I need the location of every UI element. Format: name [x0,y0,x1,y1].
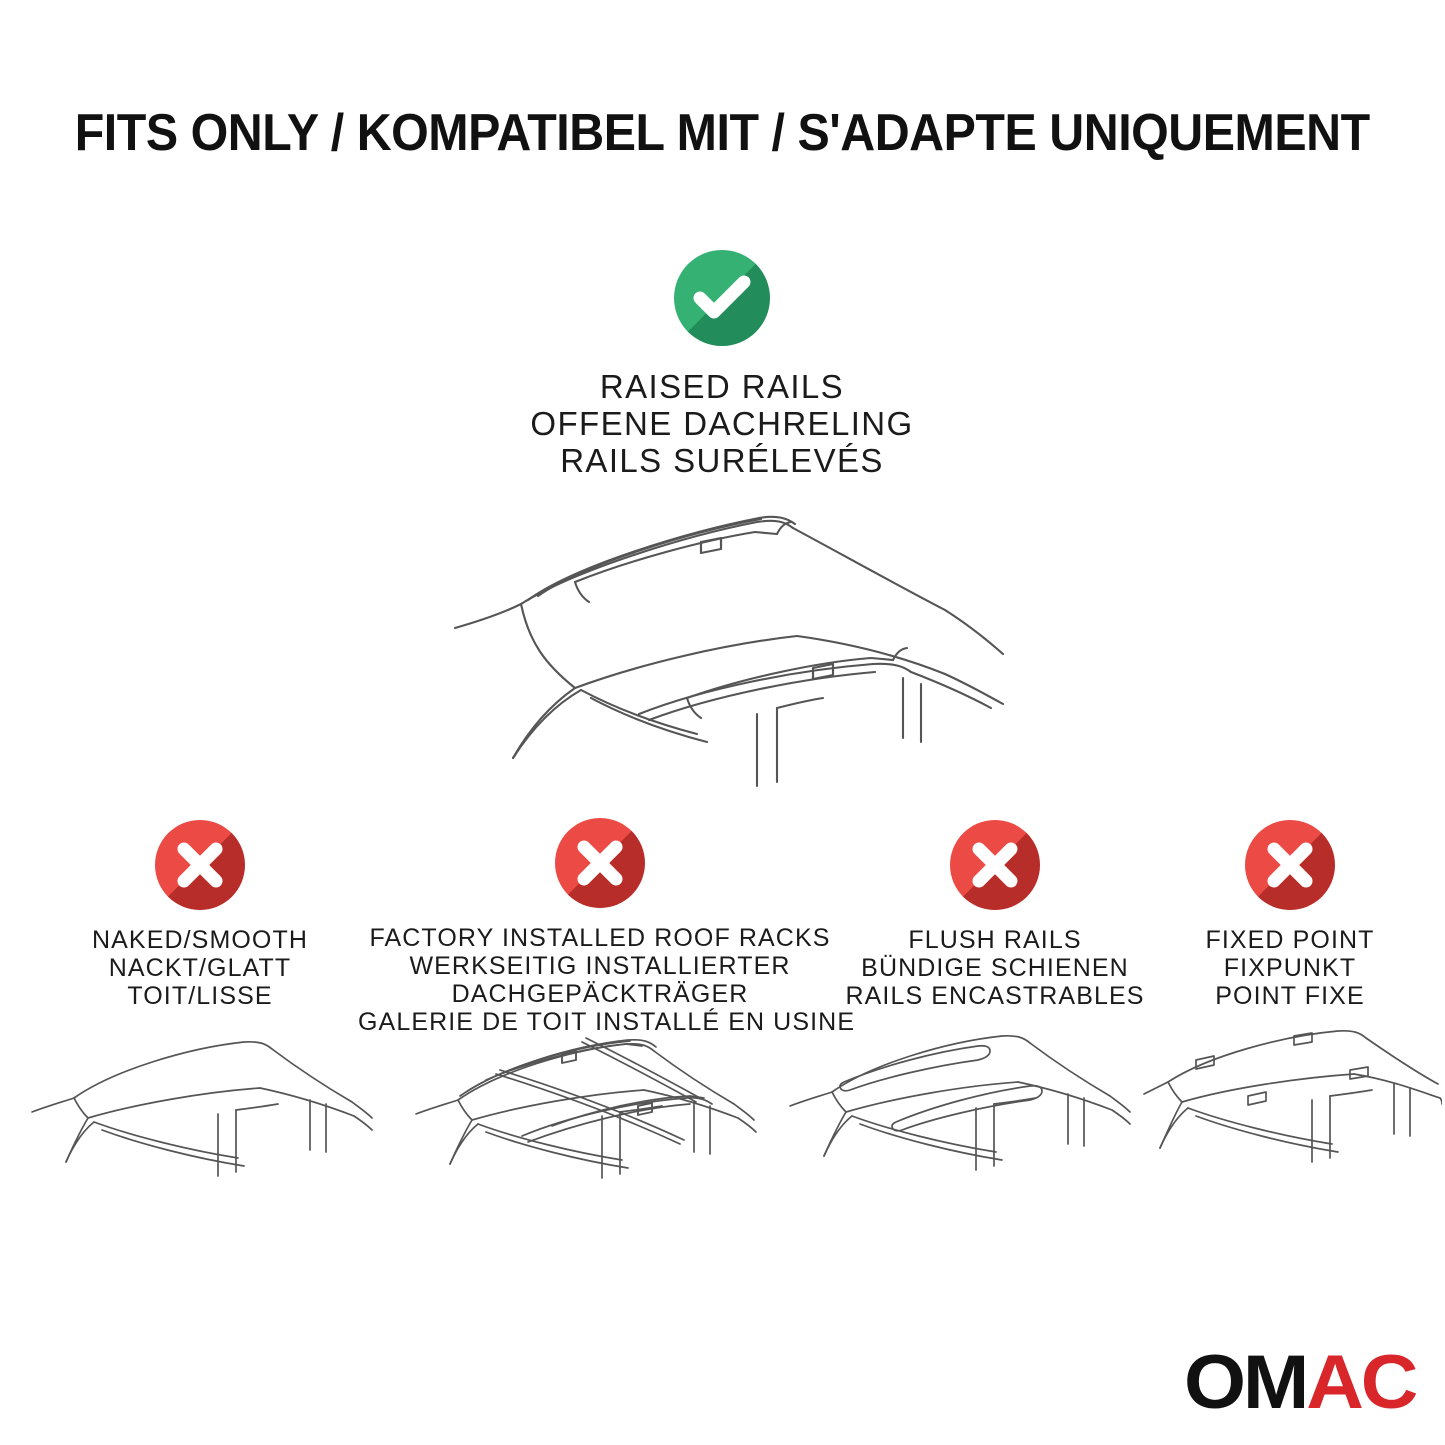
flush-rails-label-de: BÜNDIGE SCHIENEN [820,954,1170,982]
factory-racks-label-en: FACTORY INSTALLED ROOF RACKS [358,924,842,952]
naked-smooth-label-fr: TOIT/LISSE [40,982,360,1010]
cross-mark-glyph [1245,820,1335,910]
car-roof-raised-rails-illustration [425,492,1020,792]
omac-logo-part-black: OM [1184,1340,1306,1425]
compatible-label-de: OFFENE DACHRELING [222,405,1222,442]
car-roof-factory-racks-illustration [402,1008,768,1246]
factory-racks-label-de-2: DACHGEPÄCKTRÄGER [358,980,842,1008]
omac-logo: OMAC [1195,1343,1415,1423]
naked-smooth-label-en: NAKED/SMOOTH [40,926,360,954]
cross-circle-icon [1245,820,1335,910]
compatible-option-raised-rails: RAISED RAILS OFFENE DACHRELING RAILS SUR… [222,250,1222,479]
flush-rails-label-fr: RAILS ENCASTRABLES [820,982,1170,1010]
cross-circle-icon [155,820,245,910]
omac-logo-part-red: AC [1306,1340,1415,1425]
omac-logo-inner: OMAC [1184,1343,1415,1423]
cross-mark-glyph [555,818,645,908]
fixed-point-label-de: FIXPUNKT [1150,954,1430,982]
cross-circle-icon [555,818,645,908]
incompatible-option-fixed-point: FIXED POINT FIXPUNKT POINT FIXE [1150,820,1430,1010]
fixed-point-label-fr: POINT FIXE [1150,982,1430,1010]
compatible-label-en: RAISED RAILS [222,368,1222,405]
incompatible-option-naked-smooth: NAKED/SMOOTH NACKT/GLATT TOIT/LISSE [40,820,360,1010]
factory-racks-label-de-1: WERKSEITIG INSTALLIERTER [358,952,842,980]
naked-smooth-labels: NAKED/SMOOTH NACKT/GLATT TOIT/LISSE [40,926,360,1010]
incompatible-option-flush-rails: FLUSH RAILS BÜNDIGE SCHIENEN RAILS ENCAS… [820,820,1170,1010]
car-roof-flush-rails-illustration [782,1020,1142,1246]
naked-smooth-label-de: NACKT/GLATT [40,954,360,982]
car-roof-naked-illustration [22,1022,374,1247]
car-roof-fixed-point-illustration [1142,1022,1442,1244]
fixed-point-label-en: FIXED POINT [1150,926,1430,954]
compatible-label-fr: RAILS SURÉLEVÉS [222,442,1222,479]
check-circle-icon [674,250,770,346]
fixed-point-labels: FIXED POINT FIXPUNKT POINT FIXE [1150,926,1430,1010]
flush-rails-label-en: FLUSH RAILS [820,926,1170,954]
flush-rails-labels: FLUSH RAILS BÜNDIGE SCHIENEN RAILS ENCAS… [820,926,1170,1010]
cross-mark-glyph [950,820,1040,910]
page-title-text: FITS ONLY / KOMPATIBEL MIT / S'ADAPTE UN… [75,104,1370,162]
check-mark-glyph [674,250,770,346]
incompatible-option-factory-roof-racks: FACTORY INSTALLED ROOF RACKS WERKSEITIG … [358,818,842,1036]
cross-mark-glyph [155,820,245,910]
page-title: FITS ONLY / KOMPATIBEL MIT / S'ADAPTE UN… [0,104,1445,162]
cross-circle-icon [950,820,1040,910]
compatible-labels: RAISED RAILS OFFENE DACHRELING RAILS SUR… [222,368,1222,479]
